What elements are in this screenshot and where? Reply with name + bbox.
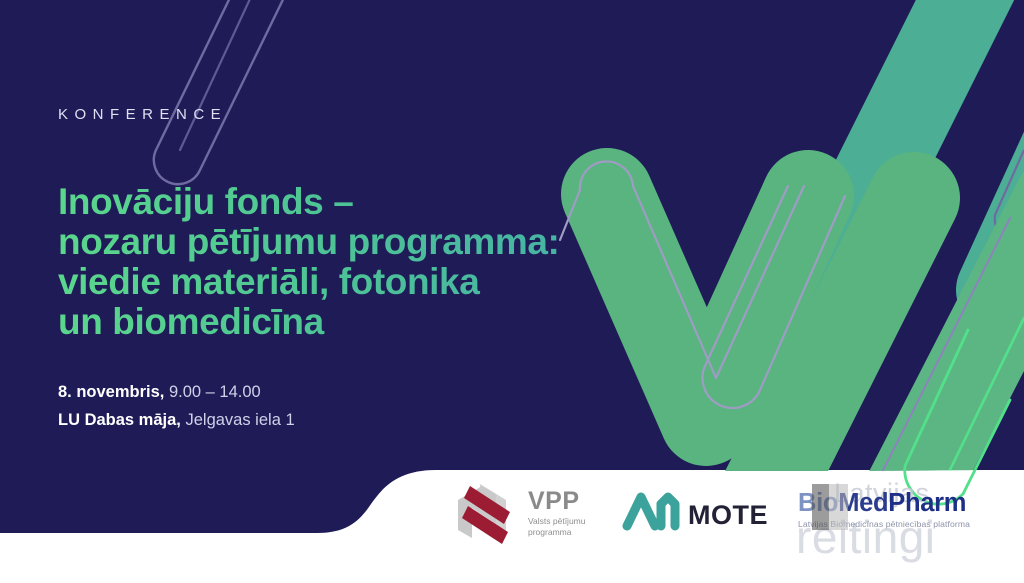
title-line-1: Inovāciju fonds – [58, 182, 618, 222]
vpp-hexagon-n-icon [450, 484, 522, 546]
vpp-subtitle-line-1: Valsts pētījumu [528, 516, 585, 526]
logo-biomedpharm: BioMedPharm Latvijas Biomedicīnas pētnie… [798, 490, 998, 546]
event-address: Jelgavas iela 1 [181, 411, 295, 429]
eyebrow-label: KONFERENCE [58, 106, 227, 123]
title-line-4: un biomedicīna [58, 302, 618, 342]
conference-banner: KONFERENCE Inovāciju fonds – nozaru pētī… [0, 0, 1024, 583]
biomedpharm-bar-icon [812, 484, 848, 530]
event-date-line: 8. novembris, 9.00 – 14.00 [58, 378, 295, 406]
page-title: Inovāciju fonds – nozaru pētījumu progra… [58, 182, 618, 342]
logo-vpp: VPP Valsts pētījumu programma [450, 484, 610, 548]
title-line-3: viedie materiāli, fotonika [58, 262, 618, 302]
event-details: 8. novembris, 9.00 – 14.00 LU Dabas māja… [58, 378, 295, 434]
vpp-subtitle: Valsts pētījumu programma [528, 516, 585, 537]
mote-chevron-m-icon [620, 488, 682, 532]
vpp-abbreviation: VPP [528, 489, 585, 514]
event-venue-line: LU Dabas māja, Jelgavas iela 1 [58, 406, 295, 434]
mote-wordmark: MOTE [688, 500, 768, 531]
event-date: 8. novembris, [58, 383, 164, 401]
vpp-subtitle-line-2: programma [528, 527, 571, 537]
sponsor-logos: VPP Valsts pētījumu programma MOTE [440, 478, 1024, 558]
logo-mote: MOTE [620, 488, 780, 544]
biomedpharm-word-pharm: Pharm [888, 489, 966, 517]
title-line-2: nozaru pētījumu programma: [58, 222, 618, 262]
event-time: 9.00 – 14.00 [164, 383, 260, 401]
vpp-wordmark: VPP Valsts pētījumu programma [528, 489, 585, 537]
event-venue: LU Dabas māja, [58, 411, 181, 429]
